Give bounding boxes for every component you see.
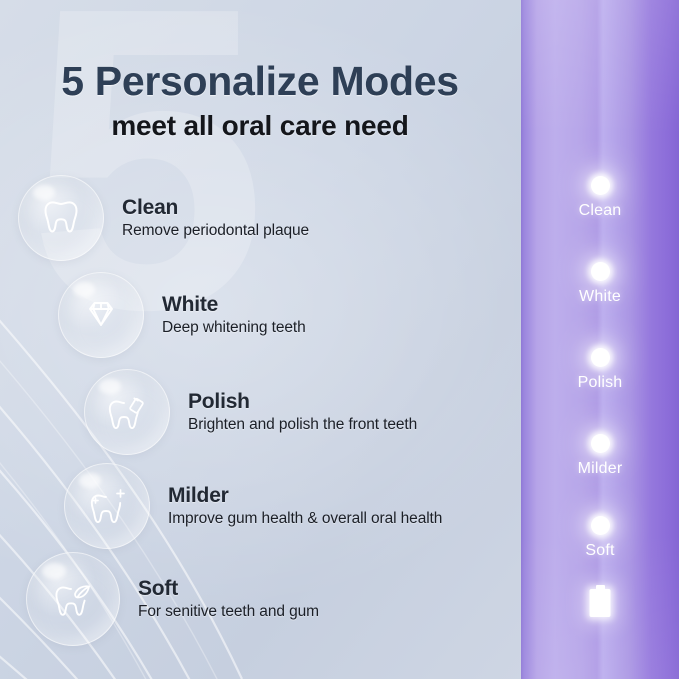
mode-text-milder: Milder Improve gum health & overall oral… [168, 484, 442, 528]
tooth-brush-icon [102, 387, 152, 437]
mode-description: Deep whitening teeth [162, 319, 306, 337]
mode-description: Remove periodontal plaque [122, 222, 309, 240]
led-indicator-soft[interactable]: Soft [540, 516, 660, 560]
led-indicator-white[interactable]: White [540, 262, 660, 306]
mode-row-soft: Soft For senitive teeth and gum [26, 552, 319, 646]
mode-description: For senitive teeth and gum [138, 603, 319, 621]
led-dot-icon [591, 262, 610, 281]
led-label: White [540, 288, 660, 306]
mode-bubble-clean [18, 175, 104, 261]
mode-bubble-white [58, 272, 144, 358]
page-subtitle: meet all oral care need [0, 110, 520, 142]
battery-body [590, 589, 611, 617]
mode-title: Milder [168, 484, 442, 508]
led-dot-icon [591, 348, 610, 367]
mode-row-clean: Clean Remove periodontal plaque [18, 175, 309, 261]
mode-bubble-soft [26, 552, 120, 646]
led-label: Polish [540, 374, 660, 392]
led-label: Clean [540, 202, 660, 220]
mode-title: White [162, 293, 306, 317]
mode-text-white: White Deep whitening teeth [162, 293, 306, 337]
led-dot-icon [591, 176, 610, 195]
mode-description: Brighten and polish the front teeth [188, 416, 417, 434]
tooth-icon [37, 194, 85, 242]
led-dot-icon [591, 516, 610, 535]
mode-bubble-polish [84, 369, 170, 455]
mode-title: Polish [188, 390, 417, 414]
led-label: Milder [540, 460, 660, 478]
led-label: Soft [540, 542, 660, 560]
mode-description: Improve gum health & overall oral health [168, 510, 442, 528]
led-dot-icon [591, 434, 610, 453]
mode-row-polish: Polish Brighten and polish the front tee… [84, 369, 417, 455]
led-indicator-polish[interactable]: Polish [540, 348, 660, 392]
mode-row-milder: Milder Improve gum health & overall oral… [64, 463, 442, 549]
toothbrush-handle-panel: Clean White Polish Milder Soft [521, 0, 679, 679]
led-indicator-clean[interactable]: Clean [540, 176, 660, 220]
mode-text-soft: Soft For senitive teeth and gum [138, 577, 319, 621]
tooth-leaf-icon [47, 573, 99, 625]
mode-text-polish: Polish Brighten and polish the front tee… [188, 390, 417, 434]
headline-block: 5 Personalize Modes meet all oral care n… [0, 58, 520, 142]
mode-title: Clean [122, 196, 309, 220]
tooth-sparkle-icon [82, 481, 132, 531]
diamond-icon [77, 291, 125, 339]
page-title: 5 Personalize Modes [0, 58, 520, 105]
product-infographic: 5 5 Personalize Modes meet all oral care… [0, 0, 679, 679]
mode-row-white: White Deep whitening teeth [58, 272, 306, 358]
mode-bubble-milder [64, 463, 150, 549]
mode-text-clean: Clean Remove periodontal plaque [122, 196, 309, 240]
led-indicator-milder[interactable]: Milder [540, 434, 660, 478]
handle-sheen [521, 0, 679, 679]
mode-title: Soft [138, 577, 319, 601]
battery-icon [590, 585, 611, 617]
